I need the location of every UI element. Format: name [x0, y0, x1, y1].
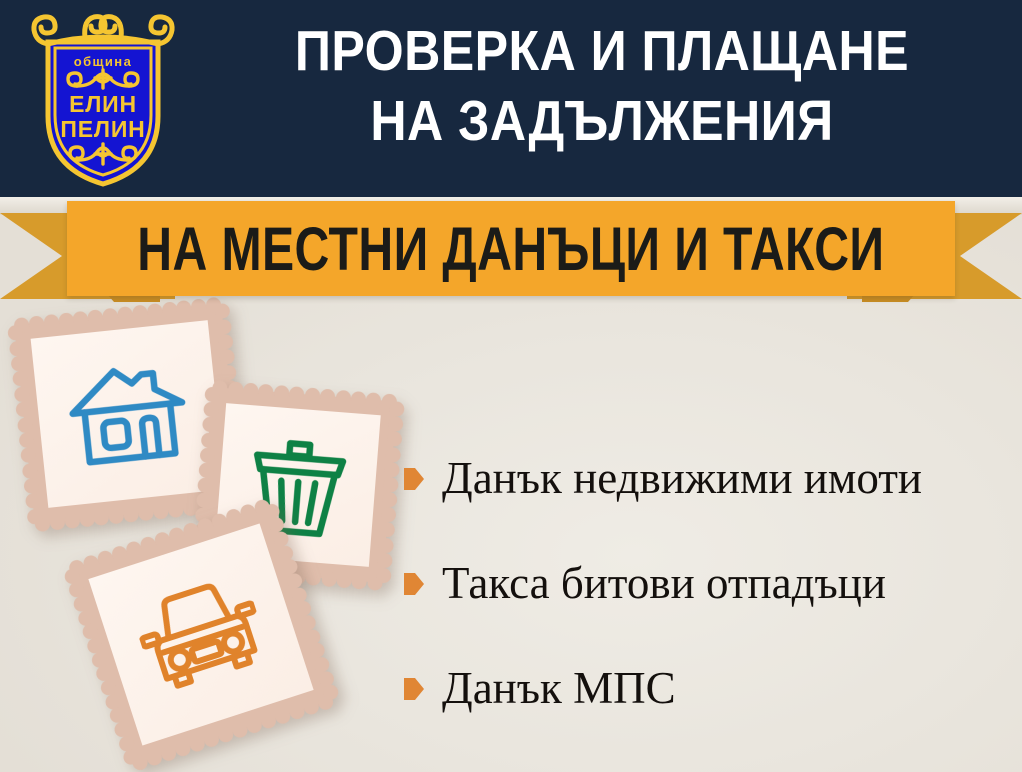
- title-line-1: ПРОВЕРКА И ПЛАЩАНЕ: [239, 16, 964, 86]
- arrow-pentagon-bullet-icon: [404, 677, 424, 701]
- ribbon-banner: НА МЕСТНИ ДАНЪЦИ И ТАКСИ: [0, 196, 1022, 306]
- crest-name-line1: ЕЛИН: [69, 91, 137, 117]
- arrow-pentagon-bullet-icon: [404, 467, 424, 491]
- stamp-paper: [31, 320, 226, 508]
- crest-name-line2: ПЕЛИН: [60, 116, 145, 142]
- crest-top-label: община: [74, 54, 132, 69]
- poster-root: община ЕЛИН ПЕЛИН: [0, 0, 1022, 772]
- page-title: ПРОВЕРКА И ПЛАЩАНЕ НА ЗАДЪЛЖЕНИЯ: [190, 16, 1014, 156]
- stamp-paper: [88, 523, 313, 745]
- list-item-label: Данък МПС: [442, 664, 676, 712]
- title-line-2: НА ЗАДЪЛЖЕНИЯ: [239, 86, 964, 156]
- list-item-label: Данък недвижими имоти: [442, 454, 922, 502]
- ribbon-label: НА МЕСТНИ ДАНЪЦИ И ТАКСИ: [137, 218, 884, 280]
- car-front-icon: [129, 569, 273, 699]
- ribbon-main-panel: НА МЕСТНИ ДАНЪЦИ И ТАКСИ: [67, 201, 955, 296]
- header-bar: община ЕЛИН ПЕЛИН: [0, 0, 1022, 197]
- house-icon: [64, 356, 192, 472]
- tax-type-list: Данък недвижими имоти Такса битови отпад…: [404, 425, 1014, 740]
- list-item-label: Такса битови отпадъци: [442, 559, 886, 607]
- list-item[interactable]: Такса битови отпадъци: [404, 530, 1014, 635]
- coat-of-arms: община ЕЛИН ПЕЛИН: [22, 8, 184, 190]
- arrow-pentagon-bullet-icon: [404, 572, 424, 596]
- list-item[interactable]: Данък МПС: [404, 635, 1014, 740]
- list-item[interactable]: Данък недвижими имоти: [404, 425, 1014, 530]
